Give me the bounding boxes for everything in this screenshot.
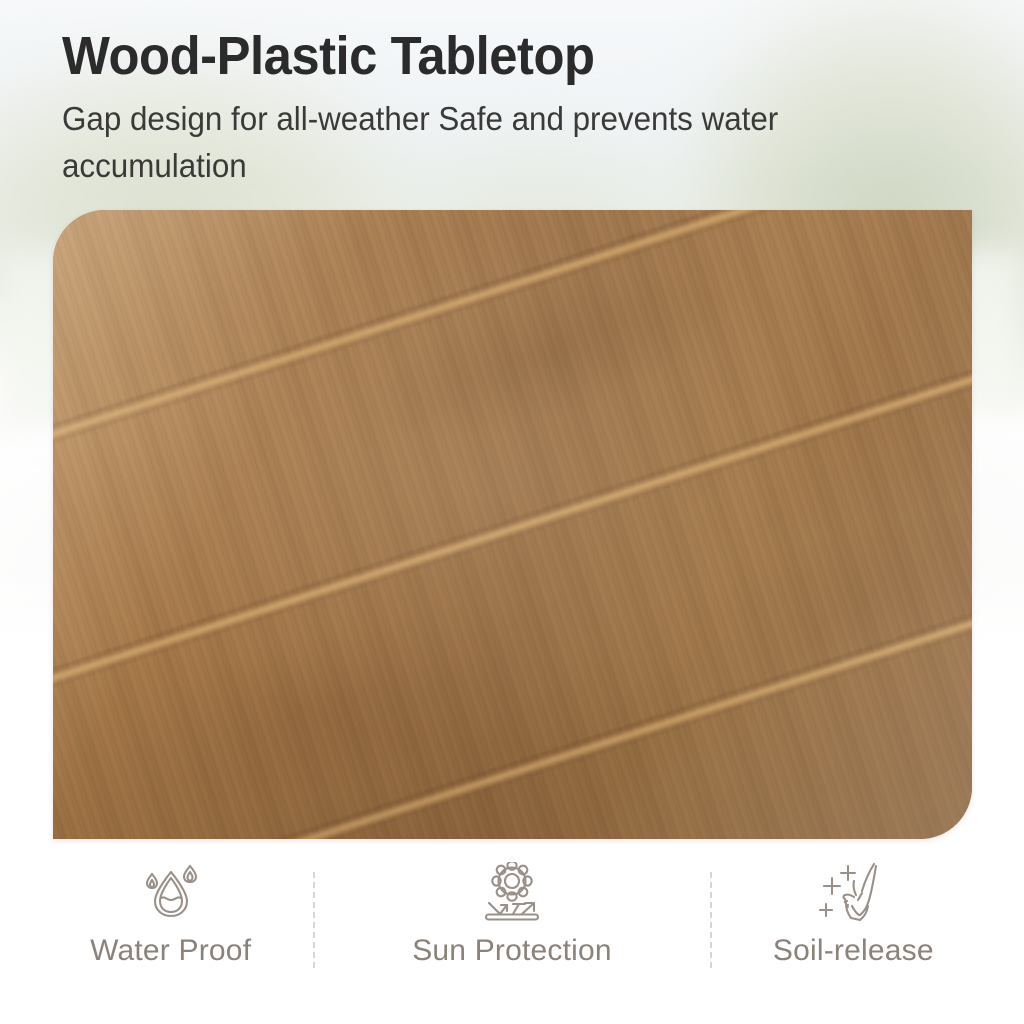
tabletop-photo [53,210,972,839]
feature-strip: Water Proof [0,862,1024,992]
feature-label: Water Proof [90,934,251,968]
sun-protection-icon [472,862,552,924]
feature-divider [313,872,315,968]
page-title: Wood-Plastic Tabletop [62,28,889,84]
page-subtitle: Gap design for all-weather Safe and prev… [62,96,898,190]
wood-sheen [53,210,972,839]
feature-label: Sun Protection [412,934,612,968]
water-drop-icon [135,862,207,924]
headline-block: Wood-Plastic Tabletop Gap design for all… [62,28,942,190]
product-infographic: Wood-Plastic Tabletop Gap design for all… [0,0,1024,1024]
feature-water-proof: Water Proof [0,862,341,968]
soil-release-icon [812,862,894,924]
feature-sun-protection: Sun Protection [341,862,682,968]
feature-label: Soil-release [773,934,934,968]
feature-soil-release: Soil-release [683,862,1024,968]
